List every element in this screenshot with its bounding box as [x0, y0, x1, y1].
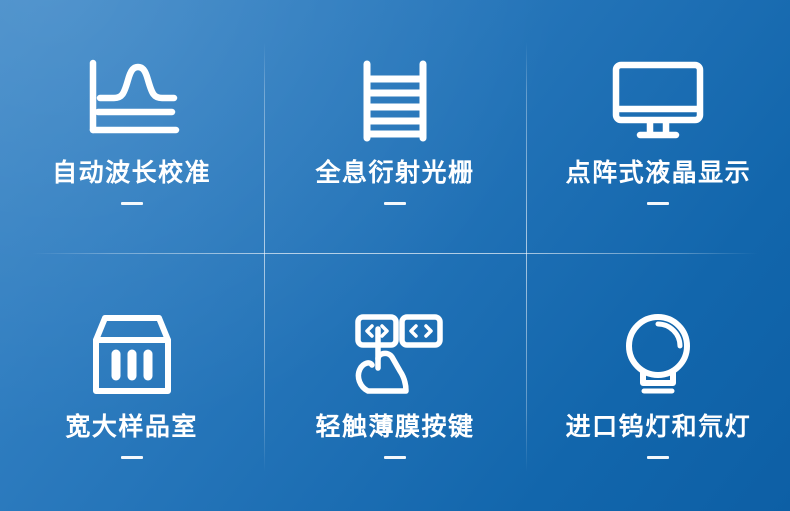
feature-grid: 自动波长校准 全息衍射光栅: [0, 0, 790, 511]
spectrum-peak-chart-icon: [80, 58, 184, 144]
feature-underline-rule: [384, 456, 406, 459]
feature-underline-rule: [121, 202, 143, 205]
feature-highlights-banner: 自动波长校准 全息衍射光栅: [0, 0, 790, 511]
feature-underline-rule: [647, 456, 669, 459]
diffraction-grating-ladder-icon: [343, 58, 447, 144]
feature-cell-dot-matrix-lcd[interactable]: 点阵式液晶显示: [527, 0, 790, 256]
feature-cell-sample-chamber[interactable]: 宽大样品室: [0, 256, 263, 511]
feature-cell-holographic-grating[interactable]: 全息衍射光栅: [263, 0, 526, 256]
feature-label: 全息衍射光栅: [315, 160, 474, 185]
feature-cell-membrane-keypad[interactable]: 轻触薄膜按键: [263, 256, 526, 511]
monitor-display-icon: [606, 58, 710, 144]
feature-underline-rule: [121, 456, 143, 459]
feature-underline-rule: [647, 202, 669, 205]
feature-label: 宽大样品室: [65, 414, 198, 439]
feature-cell-wavelength-calibration[interactable]: 自动波长校准: [0, 0, 263, 256]
feature-cell-tungsten-deuterium-lamp[interactable]: 进口钨灯和氘灯: [527, 256, 790, 511]
feature-label: 轻触薄膜按键: [315, 414, 474, 439]
feature-underline-rule: [384, 202, 406, 205]
light-bulb-icon: [606, 312, 710, 398]
feature-label: 自动波长校准: [52, 160, 211, 185]
sample-chamber-box-icon: [80, 312, 184, 398]
feature-label: 点阵式液晶显示: [566, 160, 752, 185]
feature-label: 进口钨灯和氘灯: [566, 414, 752, 439]
hand-touch-keypad-icon: [343, 312, 447, 398]
